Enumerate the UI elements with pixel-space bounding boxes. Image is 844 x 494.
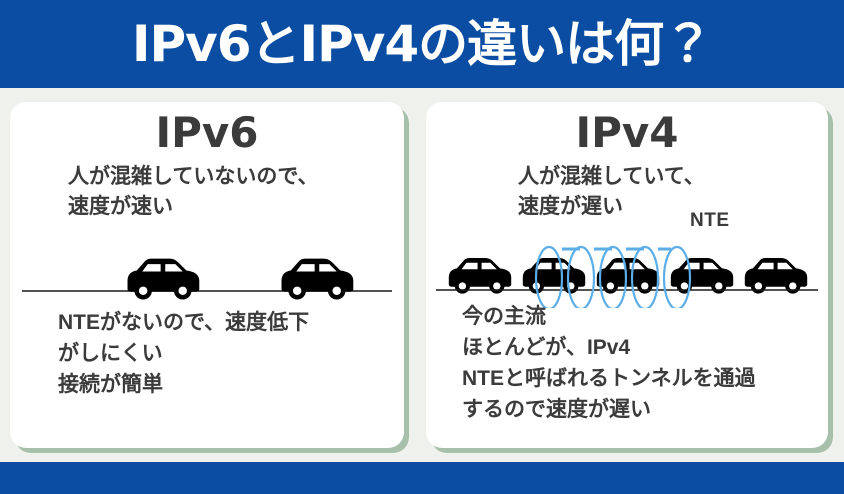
card-ipv4-subtitle: 人が混雑していて、 速度が遅い (426, 162, 828, 222)
card-ipv4-body: 今の主流 ほとんどが、IPv4 NTEと呼ばれるトンネルを通過 するので速度が遅… (462, 302, 756, 425)
header-bar: IPv6とIPv4の違いは何？ (0, 0, 844, 88)
slide-canvas: IPv6とIPv4の違いは何？ IPv6 人が混雑していないので、 速度が速い (0, 0, 844, 494)
car-icon (282, 259, 354, 300)
footer-bar (0, 462, 844, 494)
nte-label: NTE (690, 210, 730, 232)
car-icon (745, 258, 807, 294)
car-icon (523, 258, 585, 294)
page-title: IPv6とIPv4の違いは何？ (132, 19, 712, 69)
ipv6-traffic-scene (10, 242, 404, 302)
car-icon (449, 258, 511, 294)
card-ipv6-body: NTEがないので、速度低下 がしにくい 接続が簡単 (58, 308, 309, 401)
car-icon (597, 258, 659, 294)
ipv4-traffic-scene (426, 230, 828, 302)
card-ipv4-title: IPv4 (426, 108, 828, 158)
card-ipv4: IPv4 人が混雑していて、 速度が遅い NTE (426, 102, 828, 448)
card-ipv6: IPv6 人が混雑していないので、 速度が速い (10, 102, 404, 448)
card-ipv6-title: IPv6 (10, 108, 404, 158)
car-icon (671, 258, 733, 294)
car-icon (128, 259, 200, 300)
card-ipv6-subtitle: 人が混雑していないので、 速度が速い (10, 162, 404, 222)
